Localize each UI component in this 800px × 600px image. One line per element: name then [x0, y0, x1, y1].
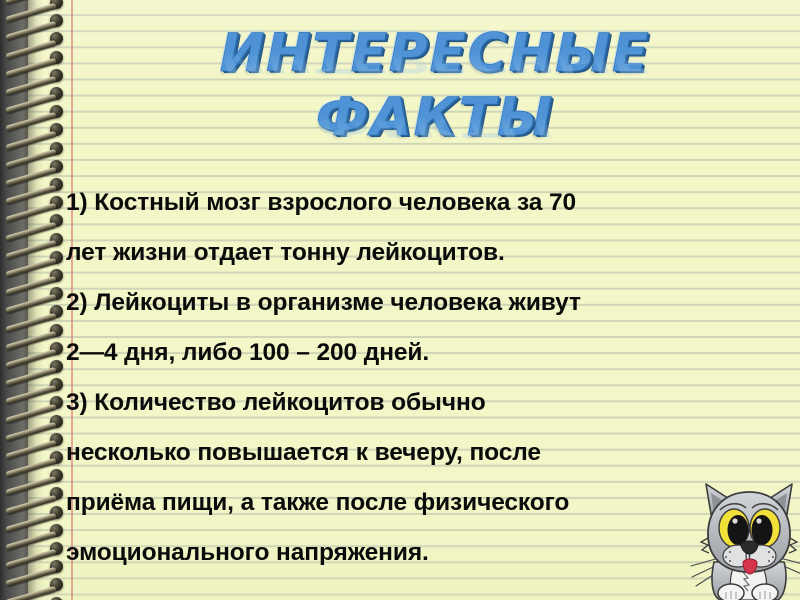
binding-coil: [6, 324, 68, 337]
fact-line: лет жизни отдает тонну лейкоцитов.: [66, 228, 766, 278]
fact-line: 2—4 дня, либо 100 – 200 дней.: [66, 328, 766, 378]
coil-knob: [50, 597, 63, 600]
binding-coil: [6, 597, 68, 600]
binding-coil: [6, 142, 68, 155]
binding-coil: [6, 123, 68, 136]
facts-text-block: 1) Костный мозг взрослого человека за 70…: [66, 178, 766, 578]
spiral-binding-icon: [0, 0, 76, 600]
binding-coil: [6, 233, 68, 246]
binding-coil: [6, 506, 68, 519]
binding-coil: [6, 396, 68, 409]
binding-coil: [6, 51, 68, 64]
binding-coil: [6, 415, 68, 428]
fact-line: приёма пищи, а также после физического: [66, 478, 766, 528]
binding-coil: [6, 305, 68, 318]
fact-line: 3) Количество лейкоцитов обычно: [66, 378, 766, 428]
fact-line: несколько повышается к вечеру, после: [66, 428, 766, 478]
fact-line: эмоционального напряжения.: [66, 528, 766, 578]
binding-coil: [6, 487, 68, 500]
binding-coil: [6, 578, 68, 591]
slide-canvas: ИНТЕРЕСНЫЕ ИНТЕРЕСНЫЕ ФАКТЫ ФАКТЫ 1) Кос…: [0, 0, 800, 600]
binding-coil: [6, 214, 68, 227]
fact-line: 2) Лейкоциты в организме человека живут: [66, 278, 766, 328]
cartoon-cat-icon: [686, 476, 800, 600]
fact-line: 1) Костный мозг взрослого человека за 70: [66, 178, 766, 228]
binding-coil: [6, 32, 68, 45]
